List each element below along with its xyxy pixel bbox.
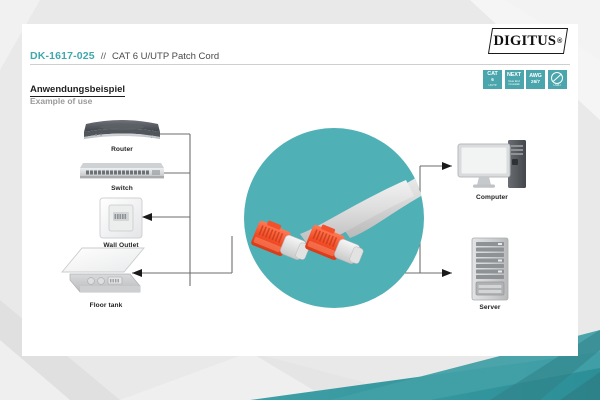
switch-icon bbox=[78, 159, 166, 183]
screenshot-root: DIGITUS® DK-1617-025 // CAT 6 U/UTP Patc… bbox=[0, 0, 600, 400]
device-computer: Computer bbox=[456, 138, 528, 197]
device-server: Server bbox=[470, 236, 510, 307]
switch-label: Switch bbox=[62, 185, 182, 192]
router-label: Router bbox=[62, 146, 182, 153]
router-icon bbox=[80, 118, 164, 144]
computer-label: Computer bbox=[432, 194, 552, 201]
device-router: Router bbox=[80, 118, 164, 149]
device-switch: Switch bbox=[78, 159, 166, 188]
arrow-server bbox=[442, 269, 452, 277]
arrow-computer bbox=[442, 162, 452, 170]
floor-tank-label: Floor tank bbox=[46, 302, 166, 309]
floor-tank-icon bbox=[60, 246, 152, 300]
server-icon bbox=[470, 236, 510, 302]
patch-cord-photo bbox=[244, 128, 424, 308]
wall-outlet-icon bbox=[98, 196, 144, 240]
device-floor-tank: Floor tank bbox=[60, 246, 152, 305]
server-label: Server bbox=[430, 304, 550, 311]
usage-diagram: Router bbox=[22, 24, 578, 356]
computer-icon bbox=[456, 138, 528, 192]
device-wall-outlet: Wall Outlet bbox=[98, 196, 144, 245]
